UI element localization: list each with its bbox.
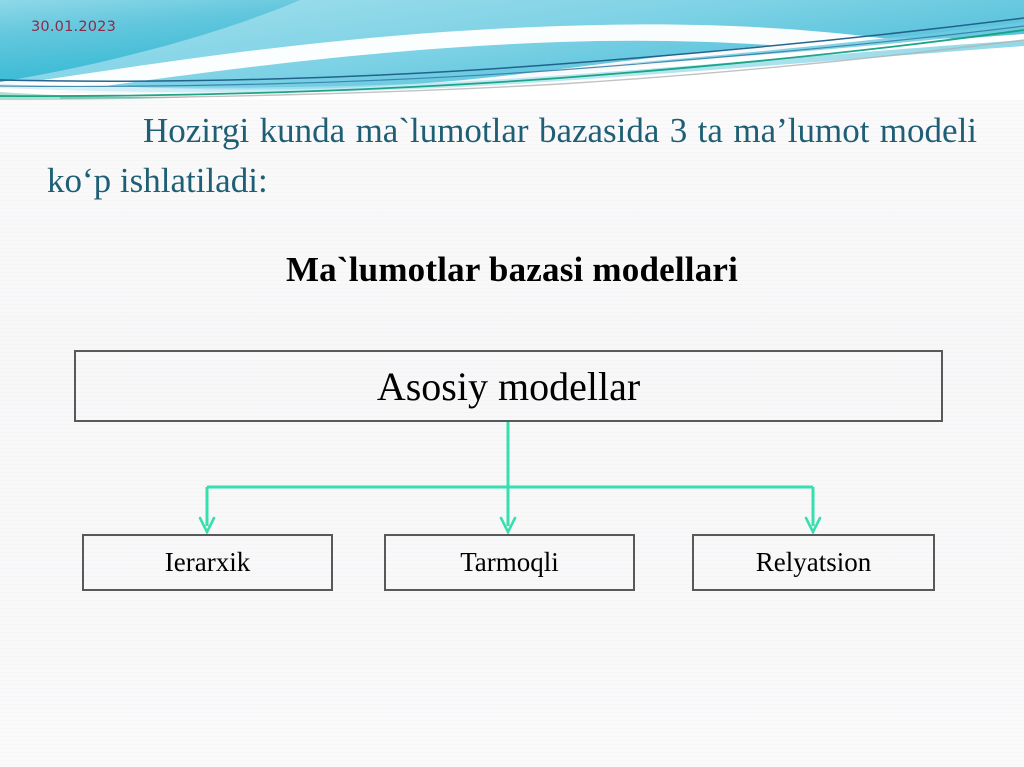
tree-node-root[interactable]: Asosiy modellar: [74, 350, 943, 422]
arrowhead-1: [200, 518, 214, 532]
tree-node-tarmoqli-label: Tarmoqli: [460, 547, 559, 578]
tree-node-ierarxik-label: Ierarxik: [165, 547, 250, 578]
tree-node-ierarxik[interactable]: Ierarxik: [82, 534, 333, 591]
section-heading: Ma`lumotlar bazasi modellari: [0, 250, 1024, 290]
tree-node-tarmoqli[interactable]: Tarmoqli: [384, 534, 635, 591]
decorative-wave-banner: [0, 0, 1024, 100]
tree-node-root-label: Asosiy modellar: [377, 363, 640, 410]
intro-paragraph-line-1: Hozirgi kunda ma`lumotlar bazasida 3 ta: [143, 111, 723, 150]
tree-node-relyatsion-label: Relyatsion: [756, 547, 872, 578]
arrowhead-3: [806, 518, 820, 532]
arrowhead-2: [501, 518, 515, 532]
slide-canvas: 30.01.2023 Hozirgi kunda ma`lumotlar baz…: [0, 0, 1024, 767]
slide-date: 30.01.2023: [31, 19, 116, 35]
tree-node-relyatsion[interactable]: Relyatsion: [692, 534, 935, 591]
intro-paragraph: Hozirgi kunda ma`lumotlar bazasida 3 ta …: [47, 106, 977, 205]
